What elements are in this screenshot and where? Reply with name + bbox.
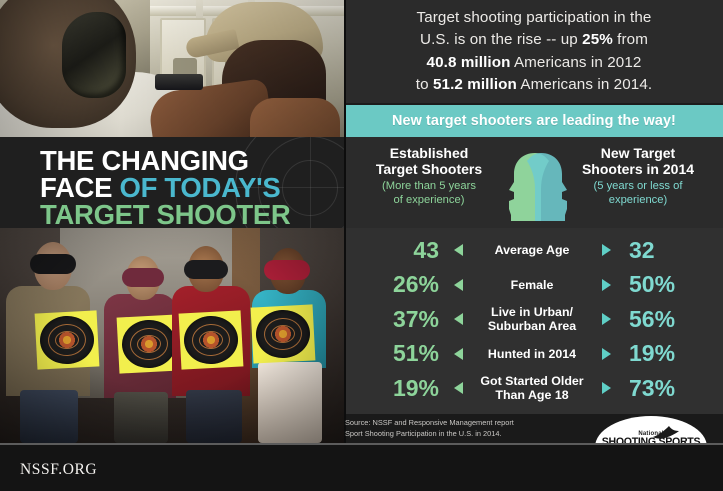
headline-text: Target shooting participation in the U.S… (400, 7, 668, 95)
table-row: 26% Female 50% (345, 268, 723, 303)
page-title: THE CHANGING FACE OF TODAY'S TARGET SHOO… (40, 148, 290, 228)
row-label: Female (471, 278, 593, 292)
headline-line-1: Target shooting participation in the (417, 9, 652, 26)
photo-shading (0, 0, 345, 140)
established-title-line2: Target Shooters (376, 161, 482, 177)
arrow-right-icon (593, 244, 619, 256)
title-line-1: THE CHANGING (40, 148, 290, 175)
new-value: 73% (619, 377, 723, 400)
headline-stat-2012: 40.8 million (427, 54, 511, 71)
new-value: 19% (619, 342, 723, 365)
footer-site-url[interactable]: NSSF.ORG (20, 461, 97, 479)
row-label: Hunted in 2014 (471, 347, 593, 361)
title-bar: THE CHANGING FACE OF TODAY'S TARGET SHOO… (0, 137, 345, 228)
source-note: Source: NSSF and Responsive Management r… (345, 418, 585, 439)
established-value: 37% (345, 308, 445, 331)
arrow-right-icon (593, 279, 619, 291)
title-line-2: FACE OF TODAY'S (40, 175, 290, 202)
established-value: 26% (345, 273, 445, 296)
table-row: 51% Hunted in 2014 19% (345, 337, 723, 372)
column-header-new: New Target Shooters in 2014 (5 years or … (559, 145, 717, 207)
row-label-line1: Hunted in 2014 (488, 347, 576, 361)
new-value: 56% (619, 308, 723, 331)
source-line-2: Sport Shooting Participation in the U.S.… (345, 429, 585, 440)
headline-line-3b: Americans in 2012 (510, 54, 641, 71)
arrow-right-icon (593, 348, 619, 360)
column-headers: Established Target Shooters (More than 5… (345, 137, 723, 228)
arrow-right-icon (593, 382, 619, 394)
row-label: Live in Urban/ Suburban Area (471, 305, 593, 333)
vertical-divider (344, 0, 346, 443)
arrow-right-icon (593, 313, 619, 325)
established-value: 43 (345, 239, 445, 262)
column-header-established: Established Target Shooters (More than 5… (353, 145, 505, 207)
new-value: 32 (619, 239, 723, 262)
new-title-line1: New Target (601, 145, 675, 161)
row-label-line2: Than Age 18 (495, 388, 568, 402)
headline-panel: Target shooting participation in the U.S… (345, 0, 723, 103)
established-value: 51% (345, 342, 445, 365)
photo-vignette (0, 228, 345, 443)
photo-group-shooters (0, 228, 345, 443)
table-row: 43 Average Age 32 (345, 233, 723, 268)
row-label-line2: Suburban Area (488, 319, 576, 333)
bird-icon (651, 424, 681, 440)
arrow-left-icon (445, 244, 471, 256)
new-value: 50% (619, 273, 723, 296)
row-label-line1: Got Started Older (480, 374, 583, 388)
headline-stat-percent: 25% (582, 31, 613, 48)
established-value: 19% (345, 377, 445, 400)
arrow-left-icon (445, 348, 471, 360)
title-line-3: TARGET SHOOTER (40, 202, 290, 228)
arrow-left-icon (445, 313, 471, 325)
infographic-root: Target shooting participation in the U.S… (0, 0, 723, 491)
arrow-left-icon (445, 382, 471, 394)
table-row: 37% Live in Urban/ Suburban Area 56% (345, 302, 723, 337)
headline-line-4c: Americans in 2014. (517, 76, 652, 93)
new-sub-line2: experience) (609, 194, 667, 206)
target-crosshair-vertical (310, 137, 311, 228)
row-label-line1: Average Age (495, 243, 570, 257)
headline-line-4a: to (416, 76, 433, 93)
comparison-table: 43 Average Age 32 26% Female 50% 37% Liv… (345, 228, 723, 414)
footer: NSSF.ORG (0, 443, 723, 491)
row-label: Average Age (471, 243, 593, 257)
table-row: 19% Got Started Older Than Age 18 73% (345, 371, 723, 406)
row-label-line1: Female (511, 278, 554, 292)
row-label: Got Started Older Than Age 18 (471, 374, 593, 402)
new-sub-line1: (5 years or less of (594, 180, 683, 192)
row-label-line1: Live in Urban/ (491, 305, 573, 319)
arrow-left-icon (445, 279, 471, 291)
headline-stat-2014: 51.2 million (433, 76, 517, 93)
headline-line-2c: from (613, 31, 648, 48)
source-line-1: Source: NSSF and Responsive Management r… (345, 418, 585, 429)
teal-banner-text: New target shooters are leading the way! (392, 113, 676, 129)
headline-line-2a: U.S. is on the rise -- up (420, 31, 582, 48)
photo-shooting-range (0, 0, 345, 140)
new-title-line2: Shooters in 2014 (582, 161, 694, 177)
established-sub-line2: of experience) (394, 194, 465, 206)
established-sub-line1: (More than 5 years (382, 180, 476, 192)
established-title-line1: Established (390, 145, 469, 161)
teal-banner: New target shooters are leading the way! (345, 103, 723, 137)
